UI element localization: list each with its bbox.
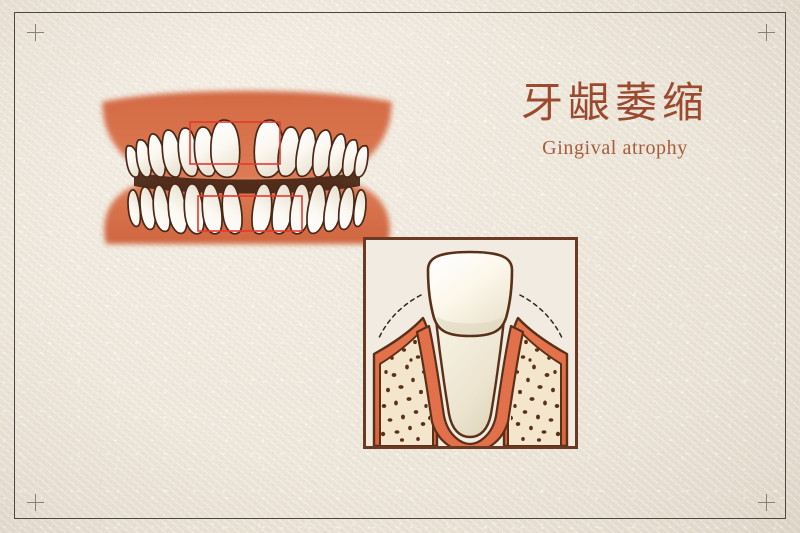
poster-canvas: 牙龈萎缩 Gingival atrophy [0,0,800,533]
page-title-chinese: 牙龈萎缩 [455,78,775,128]
title-block: 牙龈萎缩 Gingival atrophy [455,78,775,160]
dental-arches-illustration [72,86,422,256]
page-title-english: Gingival atrophy [455,137,775,160]
tooth-cross-section-inset [363,237,578,449]
